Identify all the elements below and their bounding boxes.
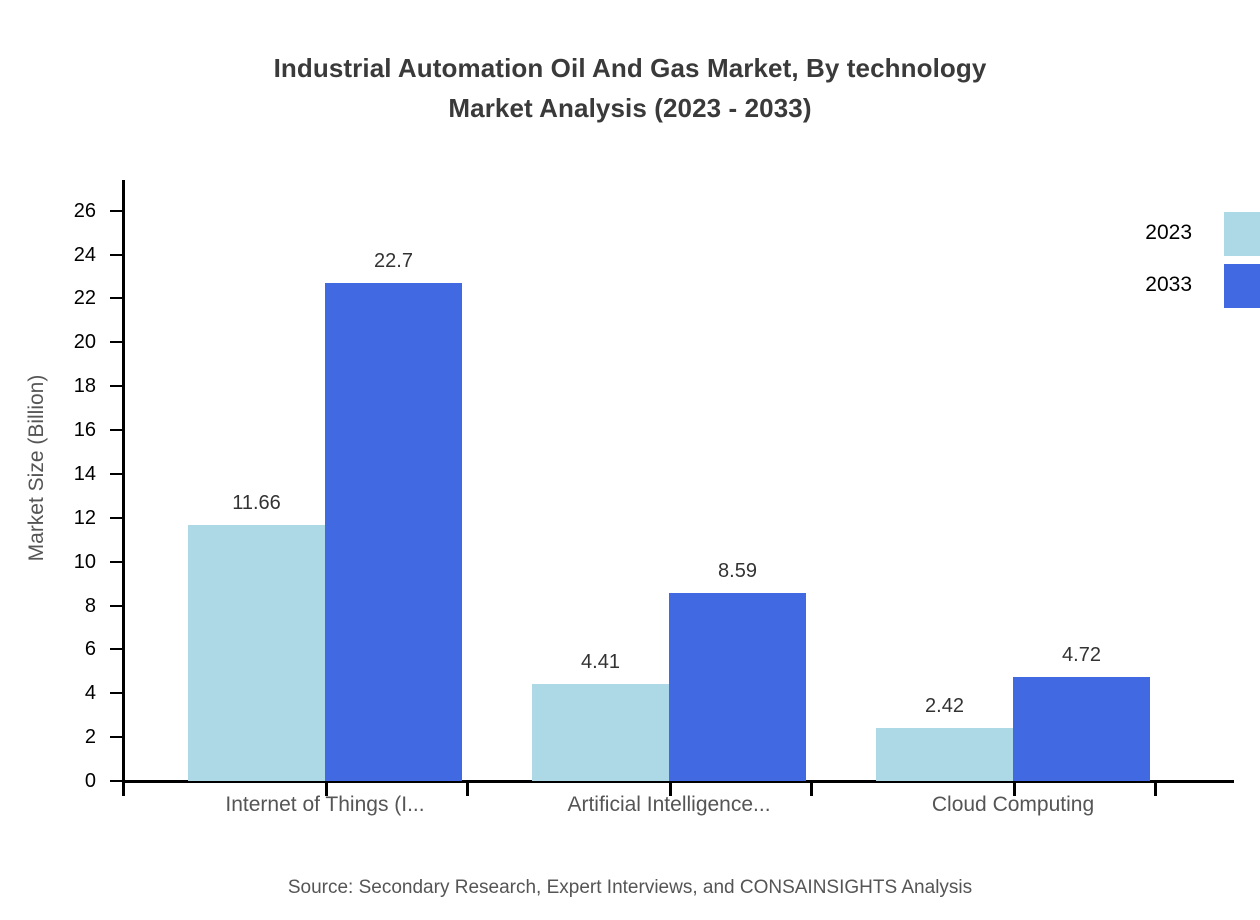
y-axis-tick-label: 16 [36,420,96,440]
y-axis-tick [110,561,124,563]
source-note: Source: Secondary Research, Expert Inter… [0,877,1260,899]
legend-item-2023[interactable]: 2023 [1100,212,1260,256]
y-axis-tick [110,605,124,607]
y-axis-tick-label: 24 [36,245,96,265]
y-axis-tick-label: 8 [36,596,96,616]
legend-item-2033[interactable]: 2033 [1100,264,1260,308]
y-axis-tick-label: 18 [36,376,96,396]
y-axis-tick-label: 20 [36,332,96,352]
y-axis-tick [110,736,124,738]
y-axis-tick [110,297,124,299]
bar-value-label: 11.66 [188,492,325,515]
bar-2033-1[interactable] [325,283,462,781]
bar-2023-2[interactable] [532,684,669,781]
y-axis-tick [110,210,124,212]
bar-value-label: 8.59 [669,560,806,583]
y-axis-tick-label: 2 [36,727,96,747]
y-axis-tick [110,692,124,694]
bar-2033-2[interactable] [669,593,806,781]
x-axis-category-label: Internet of Things (I... [125,793,525,817]
y-axis-tick [110,517,124,519]
y-axis-tick [110,473,124,475]
y-axis-tick-label: 14 [36,464,96,484]
y-axis-tick-label: 10 [36,552,96,572]
bar-value-label: 2.42 [876,695,1013,718]
y-axis-tick-label: 0 [36,771,96,791]
x-axis-category-label: Artificial Intelligence... [469,793,869,817]
bar-2033-3[interactable] [1013,677,1150,781]
legend-label: 2023 [1100,222,1192,244]
y-axis-tick-label: 6 [36,639,96,659]
y-axis-tick-label: 12 [36,508,96,528]
y-axis-tick-label: 22 [36,288,96,308]
legend-label: 2033 [1100,274,1192,296]
bar-value-label: 4.72 [1013,644,1150,667]
y-axis-tick-label: 26 [36,201,96,221]
legend-swatch [1224,212,1260,256]
bar-2023-1[interactable] [188,525,325,781]
y-axis-tick [110,429,124,431]
y-axis-tick [110,341,124,343]
chart-figure: Industrial Automation Oil And Gas Market… [0,0,1260,920]
bar-value-label: 4.41 [532,651,669,674]
chart-legend: 20232033 [1100,212,1260,308]
x-axis-category-label: Cloud Computing [813,793,1213,817]
legend-swatch [1224,264,1260,308]
chart-title-line-1: Industrial Automation Oil And Gas Market… [0,48,1260,88]
y-axis-tick-label: 4 [36,683,96,703]
y-axis-tick [110,648,124,650]
bar-2023-3[interactable] [876,728,1013,781]
y-axis-tick [110,385,124,387]
chart-title: Industrial Automation Oil And Gas Market… [0,48,1260,128]
bar-value-label: 22.7 [325,250,462,273]
chart-title-line-2: Market Analysis (2023 - 2033) [0,88,1260,128]
y-axis-tick [110,254,124,256]
